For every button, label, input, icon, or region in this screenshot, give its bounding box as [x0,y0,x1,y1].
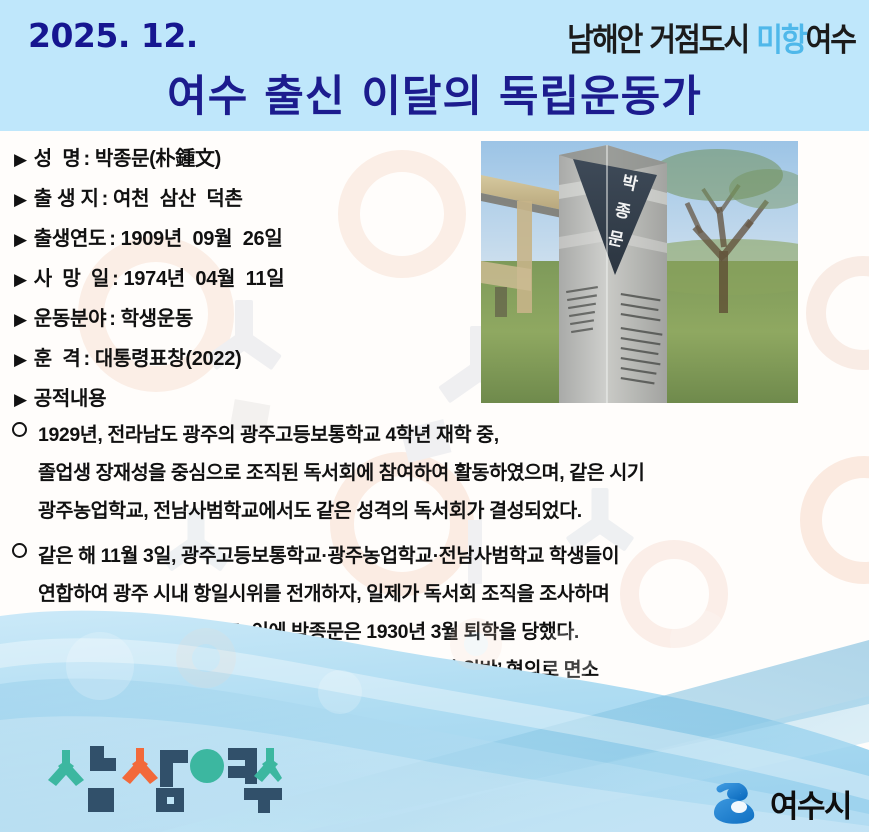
fact-separator: : [109,228,115,251]
paragraph-line: 광주농업학교, 전남사범학교에서도 같은 성격의 독서회가 결성되었다. [38,492,865,530]
fact-separator: : [109,308,115,331]
slogan-part-highlight: 미항 [756,21,805,58]
fact-separator: : [112,268,118,291]
paragraph-line: 같은 해 11월 3일, 광주고등보통학교·광주농업학교·전남사범학교 학생들이 [38,537,865,575]
triangle-bullet-icon: ▶ [14,271,27,288]
slogan-part-post: 여수 [806,21,855,58]
fact-value: 대통령표창(2022) [95,342,242,371]
circle-bullet-icon [12,543,27,558]
fact-separator: : [84,148,90,171]
fact-label: 공적내용 [34,382,106,411]
fact-row-award: ▶ 훈 격 : 대통령표창(2022) [14,342,484,382]
fact-row-birthdate: ▶ 출생연도 : 1909년 09월 26일 [14,222,484,262]
yeosu-brand-mark [44,746,282,814]
watermark-ring [806,256,869,370]
fact-row-deathdate: ▶ 사 망 일 : 1974년 04월 11일 [14,262,484,302]
fact-value: 학생운동 [121,302,193,331]
poster-header: 2025. 12. 남해안 거점도시 미항여수 여수 출신 이달의 독립운동가 [0,0,869,131]
fact-row-movement-field: ▶ 운동분야 : 학생운동 [14,302,484,342]
city-slogan: 남해안 거점도시 미항여수 [567,14,855,60]
city-logo: 여수시 [708,781,851,826]
triangle-bullet-icon: ▶ [14,191,27,208]
paragraph-line: 1929년, 전라남도 광주의 광주고등보통학교 4학년 재학 중, [38,416,865,454]
triangle-bullet-icon: ▶ [14,311,27,328]
fact-row-birthplace: ▶ 출 생 지 : 여천 삼산 덕촌 [14,182,484,222]
fact-value: 박종문(朴鍾文) [95,142,221,171]
fact-label: 출 생 지 [34,182,99,211]
profile-fact-list: ▶ 성 명 : 박종문(朴鍾文) ▶ 출 생 지 : 여천 삼산 덕촌 ▶ 출생… [14,142,484,422]
fact-label: 운동분야 [34,302,106,331]
paragraph-line: 졸업생 장재성을 중심으로 조직된 독서회에 참여하여 활동하였으며, 같은 시… [38,454,865,492]
fact-separator: : [102,188,108,211]
poster-root: 2025. 12. 남해안 거점도시 미항여수 여수 출신 이달의 독립운동가 … [0,0,869,832]
fact-separator: : [84,348,90,371]
fact-label: 훈 격 [34,342,81,371]
header-date: 2025. 12. [28,16,198,55]
fact-value: 1974년 04월 11일 [123,262,284,291]
triangle-bullet-icon: ▶ [14,151,27,168]
triangle-bullet-icon: ▶ [14,351,27,368]
circle-bullet-icon [12,422,27,437]
page-title: 여수 출신 이달의 독립운동가 [0,62,869,124]
triangle-bullet-icon: ▶ [14,231,27,248]
city-name: 여수시 [770,781,851,826]
fact-label: 성 명 [34,142,81,171]
fact-label: 출생연도 [34,222,106,251]
fact-value: 여천 삼산 덕촌 [113,182,243,211]
yeosu-wave-icon [708,783,762,825]
triangle-bullet-icon: ▶ [14,391,27,408]
fact-value: 1909년 09월 26일 [121,222,283,251]
paragraph-1: 1929년, 전라남도 광주의 광주고등보통학교 4학년 재학 중, 졸업생 장… [10,416,865,530]
memorial-monument-photo: 박 종 문 [481,141,798,403]
fact-row-name: ▶ 성 명 : 박종문(朴鍾文) [14,142,484,182]
fact-label: 사 망 일 [34,262,109,291]
slogan-part-pre: 남해안 거점도시 [567,21,756,58]
